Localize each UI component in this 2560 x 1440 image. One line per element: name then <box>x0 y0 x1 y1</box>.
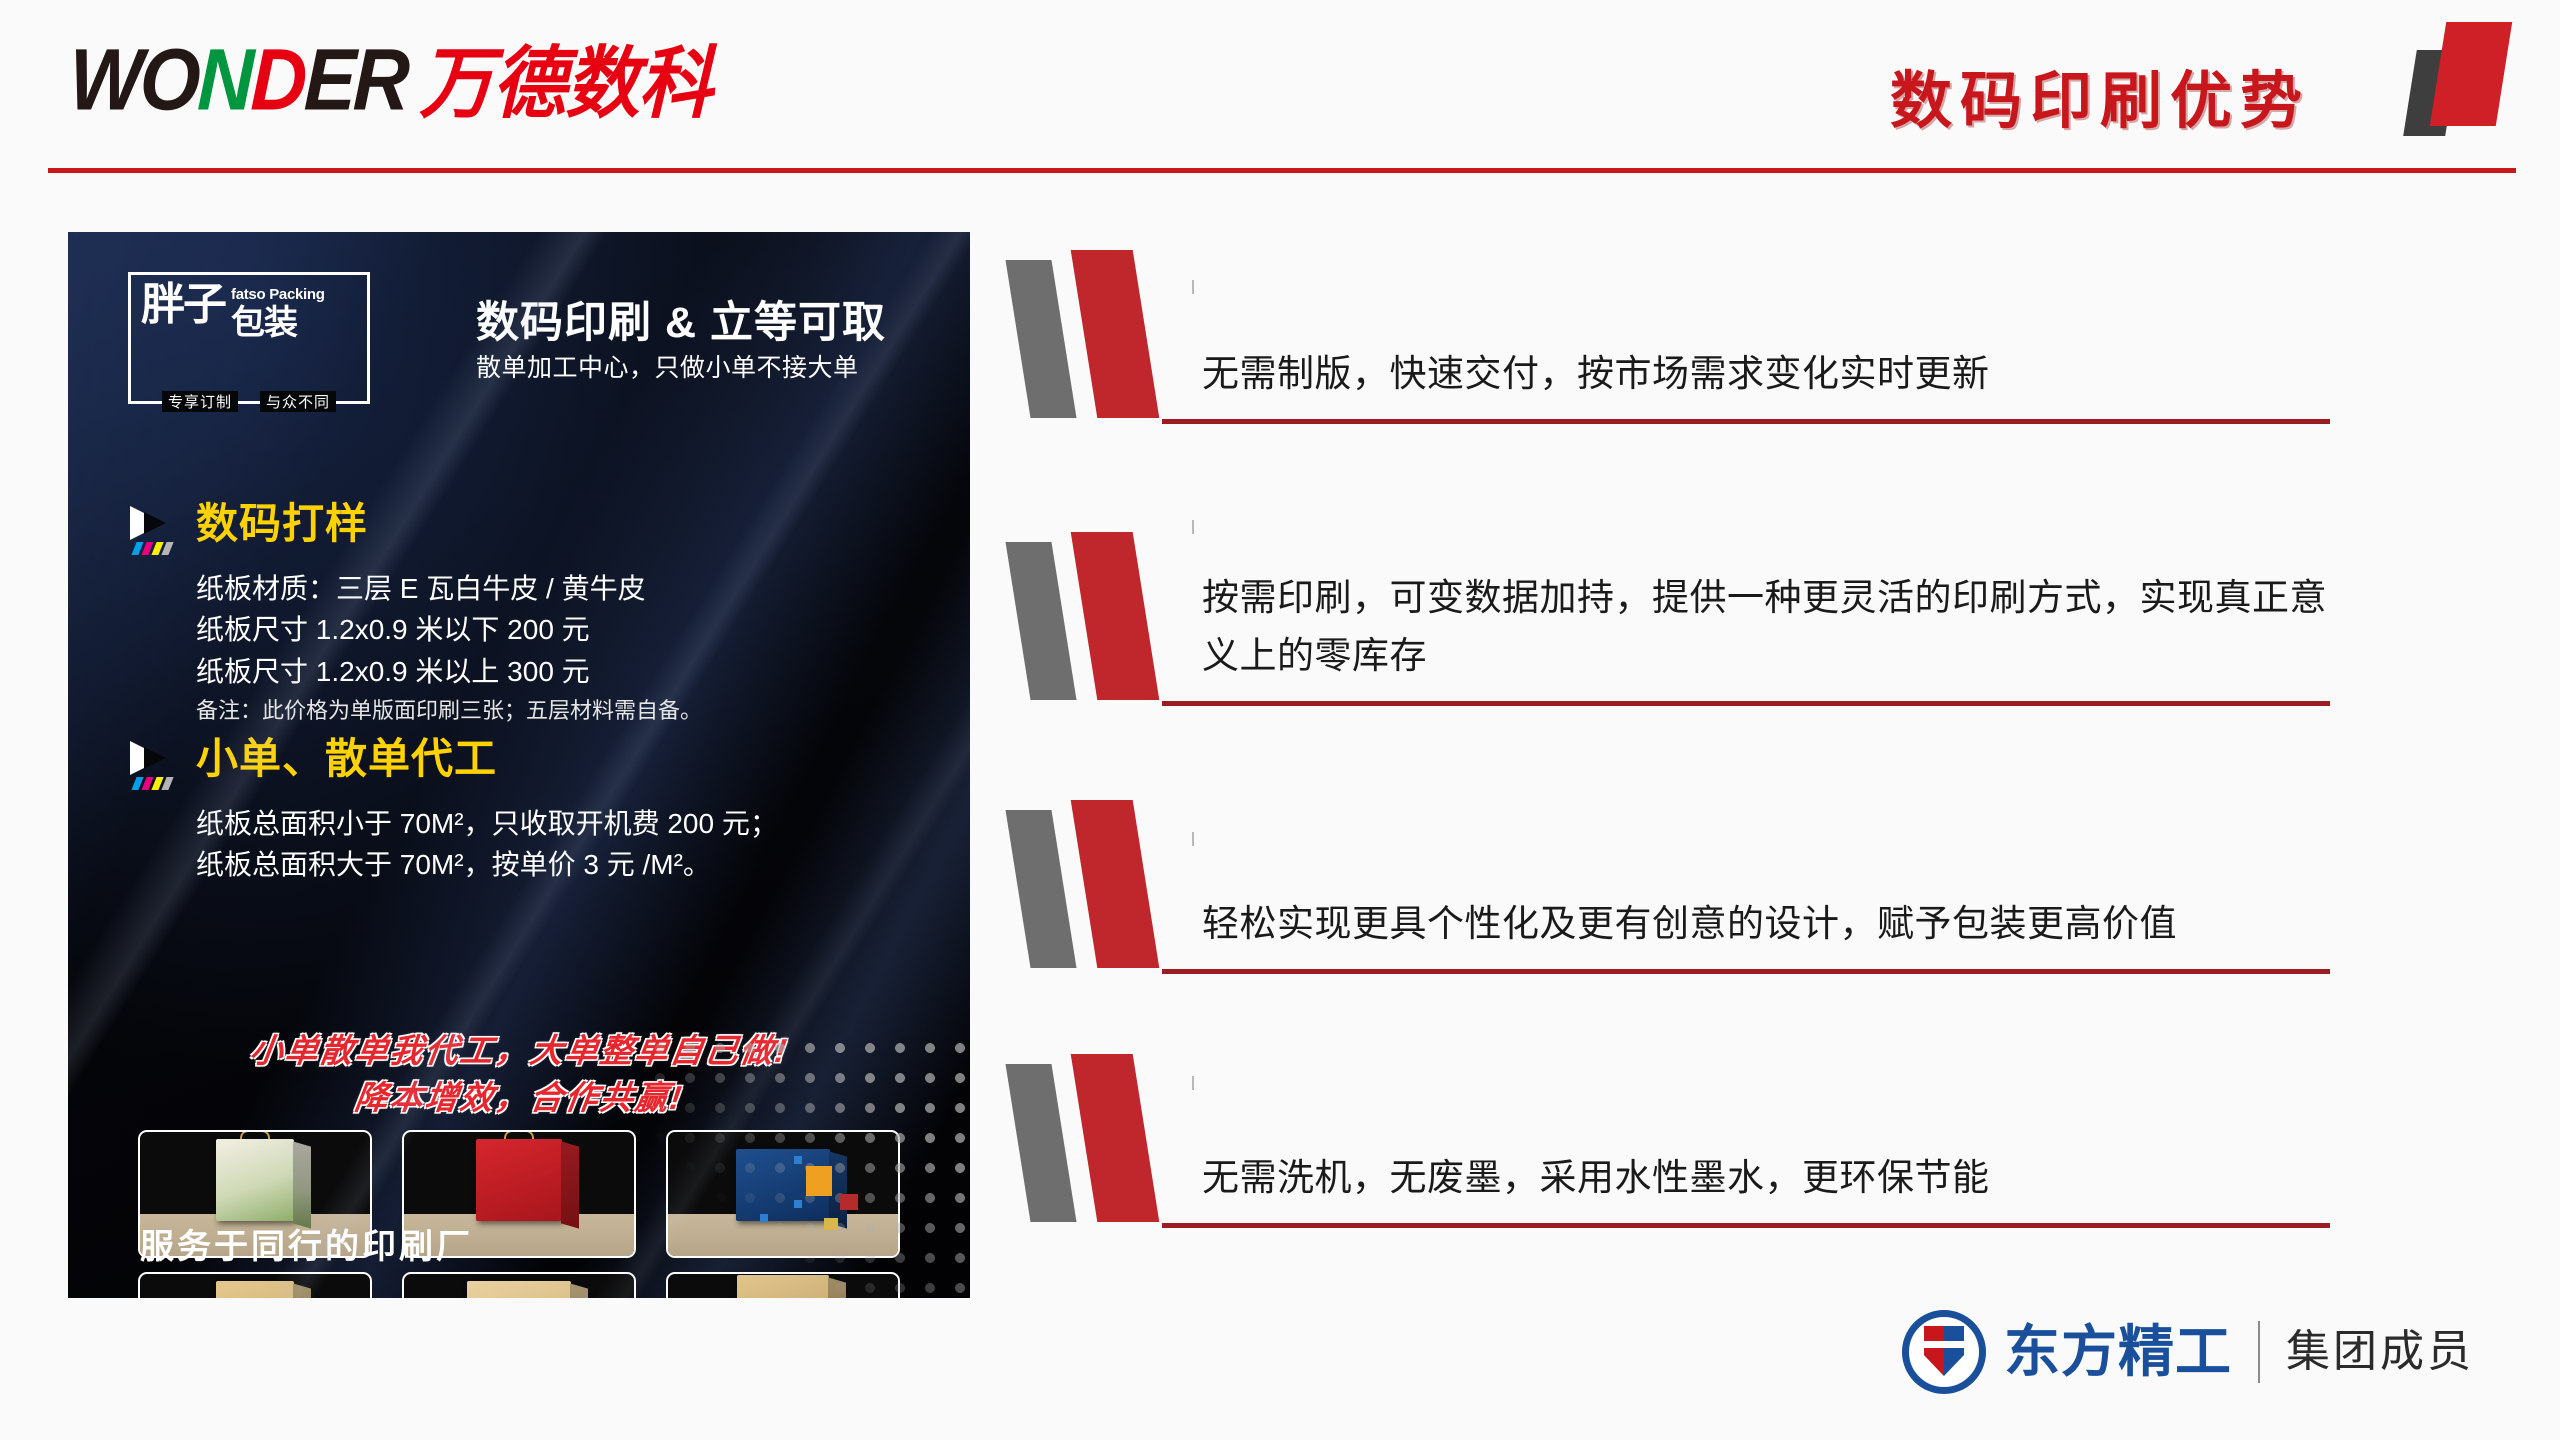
poster-section-small-orders: 小单、散单代工 纸板总面积小于 70M²，只收取开机费 200 元； 纸板总面积… <box>130 737 778 886</box>
marker-gray-bar <box>1005 1064 1076 1222</box>
marker-red-bar <box>1071 250 1160 418</box>
advantage-underline <box>1162 1223 2330 1228</box>
promotional-poster: 胖子 fatso Packing 包装 专享订制 与众不同 数码印刷 & 立等可… <box>68 232 970 1298</box>
badge-brand-cn: 胖子 <box>141 285 225 325</box>
footer-divider <box>2258 1321 2260 1383</box>
bullet-marker-icon <box>1012 1058 1202 1228</box>
advantage-underline <box>1162 701 2330 706</box>
group-member-label: 集团成员 <box>2286 1330 2474 1374</box>
fatso-packing-logo: 胖子 fatso Packing 包装 专享订制 与众不同 <box>128 272 370 404</box>
wonder-chinese-name: 万德数科 <box>419 45 711 123</box>
advantage-text: 轻松实现更具个性化及更有创意的设计，赋予包装更高价值 <box>1202 895 2332 952</box>
emblem-shield-red <box>1924 1326 1944 1376</box>
corner-red-shape <box>2430 22 2512 126</box>
bullet-marker-icon <box>1012 804 1202 974</box>
bullet-marker-icon <box>1012 536 1202 706</box>
poster-subheadline: 散单加工中心，只做小单不接大单 <box>476 348 859 384</box>
poster-section-proofing: 数码打样 纸板材质：三层 E 瓦白牛皮 / 黄牛皮 纸板尺寸 1.2x0.9 米… <box>130 502 702 727</box>
advantage-text: 无需制版，快速交付，按市场需求变化实时更新 <box>1202 345 2332 402</box>
product-photo <box>138 1272 372 1298</box>
section-note: 备注：此价格为单版面印刷三张；五层材料需自备。 <box>196 694 702 727</box>
advantage-underline <box>1162 419 2330 424</box>
badge-top-row: 胖子 fatso Packing 包装 <box>131 281 367 367</box>
wonder-wordmark: WONDER <box>68 36 408 123</box>
section-title: 小单、散单代工 <box>196 737 497 781</box>
marker-red-bar <box>1071 532 1160 700</box>
dongfang-precision-logo: 东方精工 集团成员 <box>1902 1304 2474 1400</box>
section-line: 纸板总面积小于 70M²，只收取开机费 200 元； <box>196 803 778 844</box>
badge-sub-right: 与众不同 <box>260 391 336 412</box>
advantage-item-1: 无需制版，快速交付，按市场需求变化实时更新 <box>1012 288 2332 424</box>
page-title: 数码印刷优势 <box>1890 50 2310 140</box>
advantage-underline <box>1162 969 2330 974</box>
poster-footer-text: 服务于同行的印刷厂 <box>140 1219 473 1268</box>
section-line: 纸板材质：三层 E 瓦白牛皮 / 黄牛皮 <box>196 568 702 609</box>
page-header: WONDER 万德数科 数码印刷优势 <box>0 0 2560 175</box>
wonder-er: ER <box>303 30 408 129</box>
product-photo <box>402 1272 636 1298</box>
wonder-logo: WONDER 万德数科 <box>68 48 711 120</box>
company-emblem-icon <box>1902 1310 1986 1394</box>
chevron-arrow-icon <box>130 739 196 797</box>
marker-gray-bar <box>1005 542 1076 700</box>
wonder-d-red: D <box>249 30 305 129</box>
marker-gray-bar <box>1005 260 1076 418</box>
advantage-item-3: 轻松实现更具个性化及更有创意的设计，赋予包装更高价值 <box>1012 842 2332 974</box>
emblem-bar <box>1922 1341 1966 1348</box>
advantage-item-2: 按需印刷，可变数据加持，提供一种更灵活的印刷方式，实现真正意义上的零库存 <box>1012 530 2332 706</box>
marker-red-bar <box>1071 800 1160 968</box>
badge-right-col: fatso Packing 包装 <box>231 285 325 340</box>
advantage-text: 按需印刷，可变数据加持，提供一种更灵活的印刷方式，实现真正意义上的零库存 <box>1202 569 2332 684</box>
advantage-text: 无需洗机，无废墨，采用水性墨水，更环保节能 <box>1202 1149 2332 1206</box>
section-line: 纸板尺寸 1.2x0.9 米以下 200 元 <box>196 609 702 650</box>
badge-sub-left: 专享订制 <box>162 391 238 412</box>
badge-bottom-row: 专享订制 与众不同 <box>131 390 367 412</box>
badge-brand-pack: 包装 <box>231 306 325 340</box>
company-name: 东方精工 <box>2004 1324 2232 1380</box>
section-line: 纸板尺寸 1.2x0.9 米以上 300 元 <box>196 651 702 692</box>
chevron-arrow-icon <box>130 504 196 562</box>
section-body: 纸板总面积小于 70M²，只收取开机费 200 元； 纸板总面积大于 70M²，… <box>196 803 778 886</box>
header-divider <box>48 168 2516 173</box>
wonder-n-green: N <box>196 30 252 129</box>
section-body: 纸板材质：三层 E 瓦白牛皮 / 黄牛皮 纸板尺寸 1.2x0.9 米以下 20… <box>196 568 702 727</box>
wonder-wo: WO <box>68 30 199 129</box>
advantage-item-4: 无需洗机，无废墨，采用水性墨水，更环保节能 <box>1012 1088 2332 1228</box>
corner-decoration-icon <box>2394 8 2524 136</box>
section-header: 小单、散单代工 <box>130 737 778 797</box>
section-title: 数码打样 <box>196 502 368 546</box>
badge-brand-en: fatso Packing <box>231 287 325 302</box>
color-dots-decoration <box>754 1156 874 1246</box>
section-line: 纸板总面积大于 70M²，按单价 3 元 /M²。 <box>196 844 778 885</box>
bullet-marker-icon <box>1012 254 1202 424</box>
section-header: 数码打样 <box>130 502 702 562</box>
marker-red-bar <box>1071 1054 1160 1222</box>
tick-mark <box>1192 520 1194 534</box>
poster-headline: 数码印刷 & 立等可取 <box>476 288 886 350</box>
marker-gray-bar <box>1005 810 1076 968</box>
